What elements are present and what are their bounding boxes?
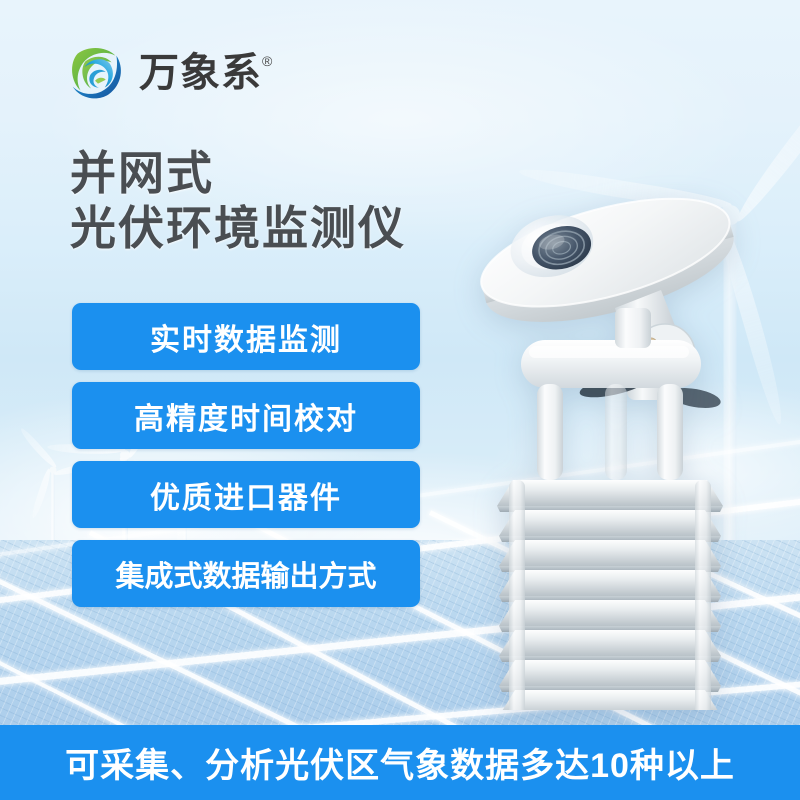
product-poster: 万象系 ® 并网式 光伏环境监测仪 实时数据监测 高精度时间校对 优质进口器件 …	[0, 0, 800, 800]
product-device-image	[465, 140, 755, 710]
feature-badge-realtime-monitoring[interactable]: 实时数据监测	[72, 303, 420, 370]
feature-badge-list: 实时数据监测 高精度时间校对 优质进口器件 集成式数据输出方式	[72, 303, 420, 607]
headline-line-2: 光伏环境监测仪	[70, 201, 500, 256]
feature-badge-integrated-output[interactable]: 集成式数据输出方式	[72, 540, 420, 607]
pyranometer-dome-sensor	[469, 171, 745, 344]
brand-logo: 万象系 ®	[66, 42, 273, 104]
globe-swirl-logo-icon	[66, 42, 128, 104]
feature-badge-time-sync[interactable]: 高精度时间校对	[72, 382, 420, 449]
feature-badge-imported-components[interactable]: 优质进口器件	[72, 461, 420, 528]
louvered-radiation-shield	[497, 480, 723, 710]
brand-name: 万象系	[139, 53, 262, 93]
headline-line-1: 并网式	[70, 147, 214, 199]
bottom-banner: 可采集、分析光伏区气象数据多达10种以上	[0, 725, 800, 800]
brand-wordmark: 万象系 ®	[139, 53, 273, 93]
page-title: 并网式 光伏环境监测仪	[70, 146, 500, 255]
banner-text: 可采集、分析光伏区气象数据多达10种以上	[65, 738, 735, 787]
registered-trademark-icon: ®	[262, 54, 273, 68]
